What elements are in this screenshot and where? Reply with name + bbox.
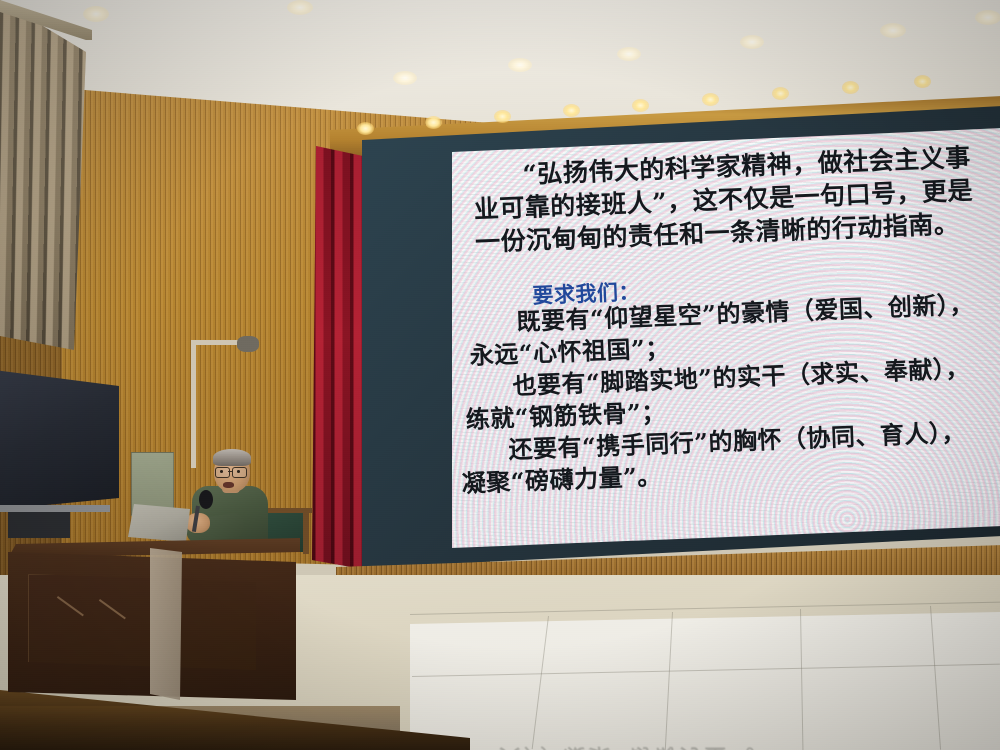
lecture-hall-photo: “弘扬伟大的科学家精神，做社会主义事业可靠的接班人”，这不仅是一句口号，更是一份… xyxy=(0,0,1000,750)
laptop-screen[interactable] xyxy=(128,504,190,542)
curtain-left-grey xyxy=(0,0,86,350)
microphone-icon xyxy=(199,490,213,509)
speaker-glasses-bridge xyxy=(228,471,232,472)
camera-bracket-arm xyxy=(191,340,196,468)
soffit-light xyxy=(914,75,931,88)
soffit-light xyxy=(772,87,789,100)
soffit-light xyxy=(425,116,442,129)
speaker-hair xyxy=(213,449,251,466)
ceiling-light-downlight xyxy=(287,0,313,15)
ceiling-light-downlight xyxy=(880,23,906,38)
display-stand xyxy=(8,512,70,538)
ceiling-light-downlight xyxy=(83,6,109,22)
soffit-light xyxy=(632,99,649,112)
stage-chair-leg xyxy=(303,508,309,554)
ceiling-light-downlight xyxy=(617,47,641,61)
flat-panel-display xyxy=(0,370,119,510)
display-bezel-base xyxy=(0,505,110,512)
stage-front-edge-right xyxy=(0,706,400,750)
floor-projection-glow xyxy=(410,612,1000,750)
speaker-mouth xyxy=(223,482,234,488)
soffit-light xyxy=(563,104,580,117)
ceiling-light-downlight xyxy=(508,58,532,72)
soffit-light xyxy=(357,122,374,135)
camera-icon xyxy=(237,336,259,352)
podium-front-panel xyxy=(28,574,258,672)
ceiling-light-downlight xyxy=(975,10,1000,25)
soffit-light xyxy=(494,110,511,123)
podium-side-face xyxy=(150,548,182,700)
ceiling-light-downlight xyxy=(393,71,417,85)
ceiling-light-downlight xyxy=(740,35,764,49)
slide-paragraph-1: “弘扬伟大的科学家精神，做社会主义事业可靠的接班人”，这不仅是一句口号，更是一份… xyxy=(472,140,995,259)
floor-slide-reflection: 人），凝聚“磅礴力量”。 xyxy=(498,742,773,750)
camera-bracket-arm-top xyxy=(191,340,243,345)
soffit-light xyxy=(842,81,859,94)
soffit-light xyxy=(702,93,719,106)
